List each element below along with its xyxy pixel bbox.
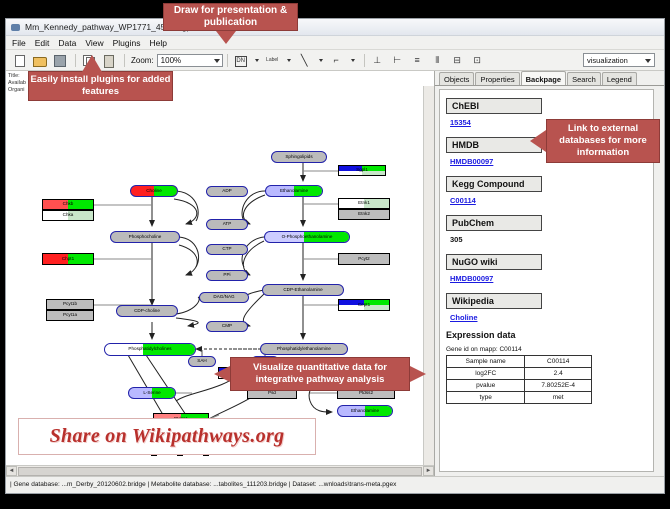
callout-links: Link to external databases for more info… bbox=[546, 119, 660, 163]
anchor-icon[interactable]: ⌐ bbox=[328, 52, 345, 69]
canvas-vertical-scrollbar[interactable] bbox=[423, 86, 434, 476]
node-sgpl1[interactable]: Sgpl1 bbox=[338, 165, 386, 176]
menu-item-plugins[interactable]: Plugins bbox=[113, 38, 141, 48]
node-label: CDP-Ethanolamine bbox=[283, 288, 322, 293]
chevron-down-icon bbox=[319, 59, 323, 62]
callout-visualize-pointer-right bbox=[410, 366, 426, 382]
node-label: Chka bbox=[63, 213, 74, 218]
save-icon[interactable] bbox=[51, 52, 68, 69]
table-row: Sample name C00114 bbox=[447, 356, 592, 368]
db-link-wikipedia[interactable]: Choline bbox=[450, 313, 647, 322]
node-sphingolipids[interactable]: Sphingolipids bbox=[271, 151, 327, 163]
expr-key: log2FC bbox=[447, 368, 525, 380]
scroll-thumb[interactable] bbox=[18, 467, 422, 476]
expression-data-header: Expression data bbox=[446, 330, 647, 340]
chevron-down-icon bbox=[255, 59, 259, 62]
expr-key: pvalue bbox=[447, 380, 525, 392]
open-icon[interactable] bbox=[31, 52, 48, 69]
side-panel-tabs: Objects Properties Backpage Search Legen… bbox=[435, 71, 664, 86]
db-value-pubchem: 305 bbox=[450, 235, 647, 244]
expr-val: 2.4 bbox=[525, 368, 592, 380]
stack-icon[interactable]: ⊟ bbox=[449, 52, 466, 69]
distribute-vertical-icon[interactable]: ≡ bbox=[409, 52, 426, 69]
datanode-tool[interactable]: DN bbox=[232, 52, 259, 69]
new-icon[interactable] bbox=[11, 52, 28, 69]
node-label: Etnk1 bbox=[358, 201, 370, 206]
align-bottom-icon[interactable]: ⊥ bbox=[369, 52, 386, 69]
node-label: Psd bbox=[268, 391, 276, 396]
node-label: CDP-choline bbox=[134, 309, 160, 314]
node-pcyt1a[interactable]: Pcyt1a bbox=[46, 310, 94, 321]
node-sah[interactable]: SAH bbox=[188, 356, 216, 367]
db-link-nugo-wiki[interactable]: HMDB00097 bbox=[450, 274, 647, 283]
node-o-phosphoethanolamine[interactable]: O-Phosphoethanolamine bbox=[264, 231, 350, 243]
node-etnk1[interactable]: Etnk1 bbox=[338, 198, 390, 209]
db-header-pubchem: PubChem bbox=[446, 215, 542, 231]
chevron-down-icon bbox=[351, 59, 355, 62]
menu-item-help[interactable]: Help bbox=[150, 38, 167, 48]
node-cdp-ethanolamine[interactable]: CDP-Ethanolamine bbox=[262, 284, 344, 296]
callout-draw-pointer bbox=[216, 31, 236, 44]
node-cdp-choline[interactable]: CDP-choline bbox=[116, 305, 178, 317]
toolbar-separator-2 bbox=[124, 54, 125, 67]
callout-draw: Draw for presentation & publication bbox=[163, 3, 298, 31]
db-header-hmdb: HMDB bbox=[446, 137, 542, 153]
db-header-wikipedia: Wikipedia bbox=[446, 293, 542, 309]
zoom-select[interactable]: 100% bbox=[157, 54, 223, 67]
toolbar-separator-3 bbox=[227, 54, 228, 67]
node-label: Pcyt1a bbox=[63, 313, 77, 318]
zoom-label: Zoom: bbox=[131, 56, 154, 65]
canvas-horizontal-scrollbar[interactable]: ◄ ► bbox=[6, 465, 434, 476]
expression-table: Sample name C00114 log2FC 2.4 pvalue 7.8… bbox=[446, 355, 592, 404]
share-banner-text: Share on Wikipathways.org bbox=[50, 425, 285, 448]
node-label: Sphingolipids bbox=[285, 155, 312, 160]
node-pcyt1b[interactable]: Pcyt1b bbox=[46, 299, 94, 310]
callout-links-pointer bbox=[530, 130, 546, 152]
node-label: Phosphocholine bbox=[129, 235, 162, 240]
db-header-kegg-compound: Kegg Compound bbox=[446, 176, 542, 192]
menu-item-view[interactable]: View bbox=[85, 38, 103, 48]
node-label: CMP bbox=[222, 324, 232, 329]
visualization-select[interactable]: visualization bbox=[583, 53, 655, 67]
gene-id-line: Gene id on mapp: C00114 bbox=[446, 346, 647, 353]
toolbar: Zoom: 100% DN Label ╲ ⌐ ⊥ ⊢ ≡ ⦀ ⊟ ⊡ vi bbox=[6, 50, 664, 71]
node-phosphatidylethanolamine[interactable]: Phosphatidylethanolamine bbox=[260, 343, 348, 355]
node-phosphocholine[interactable]: Phosphocholine bbox=[110, 231, 180, 243]
align-left-icon[interactable]: ⊢ bbox=[389, 52, 406, 69]
tab-legend[interactable]: Legend bbox=[602, 72, 637, 85]
callout-visualize-pointer-left bbox=[214, 366, 230, 382]
chevron-down-icon bbox=[214, 59, 220, 63]
expr-key: type bbox=[447, 392, 525, 404]
meta-title-label: Title: bbox=[8, 73, 26, 80]
node-label: Chpt1 bbox=[62, 257, 74, 262]
toolbar-separator-4 bbox=[364, 54, 365, 67]
zoom-value: 100% bbox=[161, 56, 181, 65]
group-icon[interactable]: ⊡ bbox=[469, 52, 486, 69]
node-label: Pcyt2 bbox=[358, 257, 370, 262]
tab-properties[interactable]: Properties bbox=[475, 72, 519, 85]
tab-search[interactable]: Search bbox=[567, 72, 601, 85]
expr-key: Sample name bbox=[447, 356, 525, 368]
node-label: O-Phosphoethanolamine bbox=[282, 235, 333, 240]
node-label: ADP bbox=[222, 189, 231, 194]
node-pcyt2[interactable]: Pcyt2 bbox=[338, 253, 390, 265]
distribute-horizontal-icon[interactable]: ⦀ bbox=[429, 52, 446, 69]
db-link-kegg-compound[interactable]: C00114 bbox=[450, 196, 647, 205]
node-label: SAH bbox=[197, 359, 206, 364]
node-chpt1[interactable]: Chpt1 bbox=[42, 253, 94, 265]
table-row: pvalue 7.80252E-4 bbox=[447, 380, 592, 392]
node-label: ATP bbox=[223, 222, 232, 227]
node-label: Phosphatidylcholines bbox=[128, 347, 171, 352]
paste-icon[interactable] bbox=[100, 52, 117, 69]
label-tool[interactable]: Label bbox=[264, 52, 291, 69]
node-ppi[interactable]: PPi bbox=[206, 270, 248, 281]
line-tool[interactable]: ╲ bbox=[296, 52, 323, 69]
anchor-tool[interactable]: ⌐ bbox=[328, 52, 355, 69]
callout-plugins-pointer bbox=[82, 55, 102, 72]
expr-val: C00114 bbox=[525, 356, 592, 368]
node-chkb[interactable]: Chkb bbox=[42, 199, 94, 210]
tab-backpage[interactable]: Backpage bbox=[521, 71, 566, 85]
expr-val: met bbox=[525, 392, 592, 404]
menu-item-edit[interactable]: Edit bbox=[35, 38, 50, 48]
node-ethanolamine-bottom[interactable]: Ethanolamine bbox=[337, 405, 393, 417]
status-bar: | Gene database: ...m_Derby_20120602.bri… bbox=[6, 476, 664, 492]
tab-objects[interactable]: Objects bbox=[439, 72, 474, 85]
app-icon bbox=[10, 22, 21, 33]
title-bar: Mm_Kennedy_pathway_WP1771_45176.gpml bbox=[6, 19, 664, 36]
node-label: Cept1 bbox=[358, 303, 370, 308]
node-label: Etnk2 bbox=[358, 212, 370, 217]
table-row: type met bbox=[447, 392, 592, 404]
meta-availability-label: Availab bbox=[8, 80, 26, 87]
node-label: L-Serine bbox=[143, 391, 160, 396]
node-label: Ptdss2 bbox=[359, 391, 373, 396]
node-label: Chkb bbox=[63, 202, 74, 207]
node-label: PPi bbox=[223, 273, 230, 278]
db-header-chebi: ChEBI bbox=[446, 98, 542, 114]
node-l-serine-left[interactable]: L-Serine bbox=[128, 387, 176, 399]
chevron-down-icon bbox=[287, 59, 291, 62]
callout-visualize: Visualize quantitative data for integrat… bbox=[230, 357, 410, 391]
node-label: Phosphatidylethanolamine bbox=[277, 347, 331, 352]
node-phosphatidylcholines[interactable]: Phosphatidylcholines bbox=[104, 343, 196, 356]
visualization-value: visualization bbox=[587, 56, 628, 65]
pathway-canvas[interactable]: Title: Availab Organi bbox=[6, 71, 435, 476]
node-label: Ethanolamine bbox=[280, 189, 308, 194]
table-row: log2FC 2.4 bbox=[447, 368, 592, 380]
menu-item-data[interactable]: Data bbox=[58, 38, 76, 48]
canvas-meta: Title: Availab Organi bbox=[8, 73, 26, 94]
node-dag-nag[interactable]: DAG/NAG bbox=[199, 292, 249, 303]
callout-plugins: Easily install plugins for added feature… bbox=[28, 71, 173, 101]
node-label: Choline bbox=[146, 189, 162, 194]
node-label: DAG/NAG bbox=[213, 295, 234, 300]
status-text: | Gene database: ...m_Derby_20120602.bri… bbox=[10, 481, 396, 488]
node-choline-top[interactable]: Choline bbox=[130, 185, 178, 197]
menu-bar: File Edit Data View Plugins Help bbox=[6, 36, 664, 50]
node-label: Ethanolamine bbox=[351, 409, 379, 414]
node-label: CTP bbox=[222, 247, 231, 252]
expr-val: 7.80252E-4 bbox=[525, 380, 592, 392]
node-cmp[interactable]: CMP bbox=[206, 321, 248, 332]
scroll-right-icon[interactable]: ► bbox=[423, 466, 434, 476]
chevron-down-icon bbox=[645, 59, 651, 63]
scroll-left-icon[interactable]: ◄ bbox=[6, 466, 17, 476]
menu-item-file[interactable]: File bbox=[12, 38, 26, 48]
node-chka[interactable]: Chka bbox=[42, 210, 94, 221]
meta-organism-label: Organi bbox=[8, 87, 26, 94]
node-label: Sgpl1 bbox=[356, 168, 368, 173]
share-banner: Share on Wikipathways.org bbox=[18, 418, 316, 455]
node-label: Pcyt1b bbox=[63, 302, 77, 307]
node-etnk2[interactable]: Etnk2 bbox=[338, 209, 390, 220]
label-icon[interactable]: Label bbox=[264, 52, 281, 69]
toolbar-separator-1 bbox=[75, 54, 76, 67]
node-atp[interactable]: ATP bbox=[206, 219, 248, 230]
node-ctp[interactable]: CTP bbox=[206, 244, 248, 255]
datanode-icon[interactable]: DN bbox=[232, 52, 249, 69]
line-icon[interactable]: ╲ bbox=[296, 52, 313, 69]
node-adp[interactable]: ADP bbox=[206, 186, 248, 197]
node-cept1[interactable]: Cept1 bbox=[338, 299, 390, 311]
node-ethanolamine-top[interactable]: Ethanolamine bbox=[265, 185, 323, 197]
db-header-nugo-wiki: NuGO wiki bbox=[446, 254, 542, 270]
